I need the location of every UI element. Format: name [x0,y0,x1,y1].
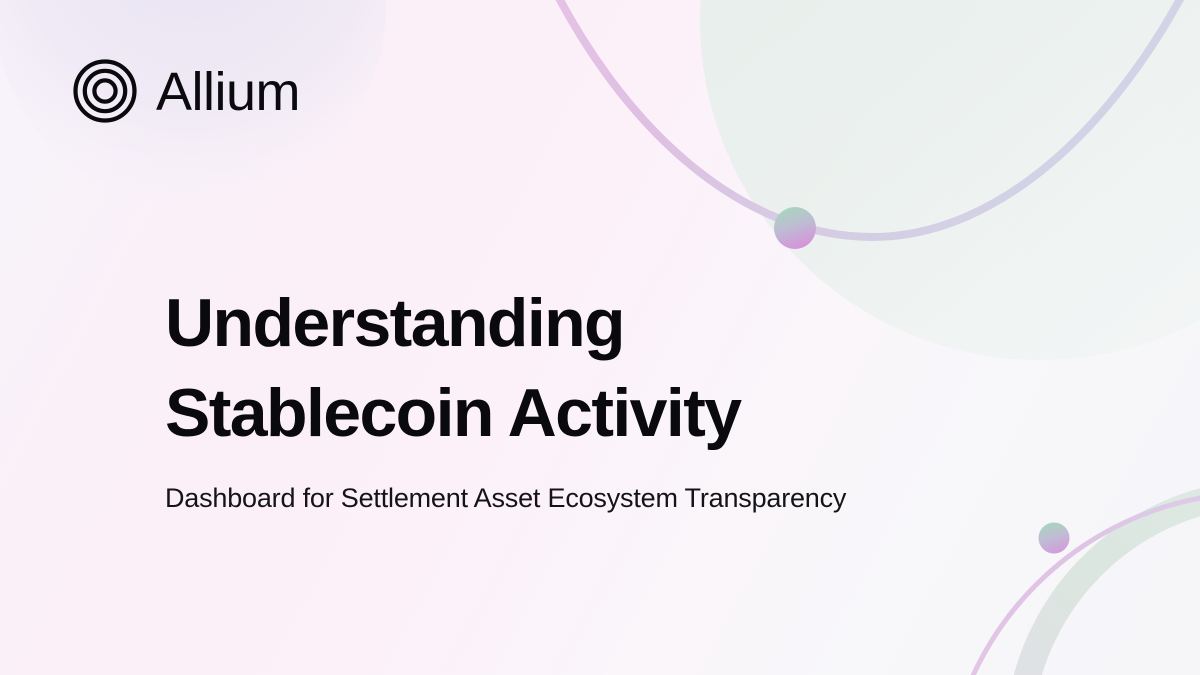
brand-wordmark: Allium [156,65,300,119]
page-title-line-2: Stablecoin Activity [165,368,846,458]
title-slide: Allium Understanding Stablecoin Activity… [0,0,1200,675]
bullseye-target-icon [72,58,138,124]
bottom-right-pink-arc [963,496,1200,675]
page-subtitle: Dashboard for Settlement Asset Ecosystem… [165,458,846,516]
bottom-right-arc-dot [1039,523,1070,554]
brand-logo-lockup: Allium [72,58,300,124]
page-title: Understanding Stablecoin Activity [165,278,846,458]
bottom-right-mint-ring [1022,500,1200,675]
top-arc [540,0,1200,237]
hero-text-block: Understanding Stablecoin Activity Dashbo… [165,278,846,516]
top-arc-dot [774,207,816,249]
page-title-line-1: Understanding [165,278,846,368]
